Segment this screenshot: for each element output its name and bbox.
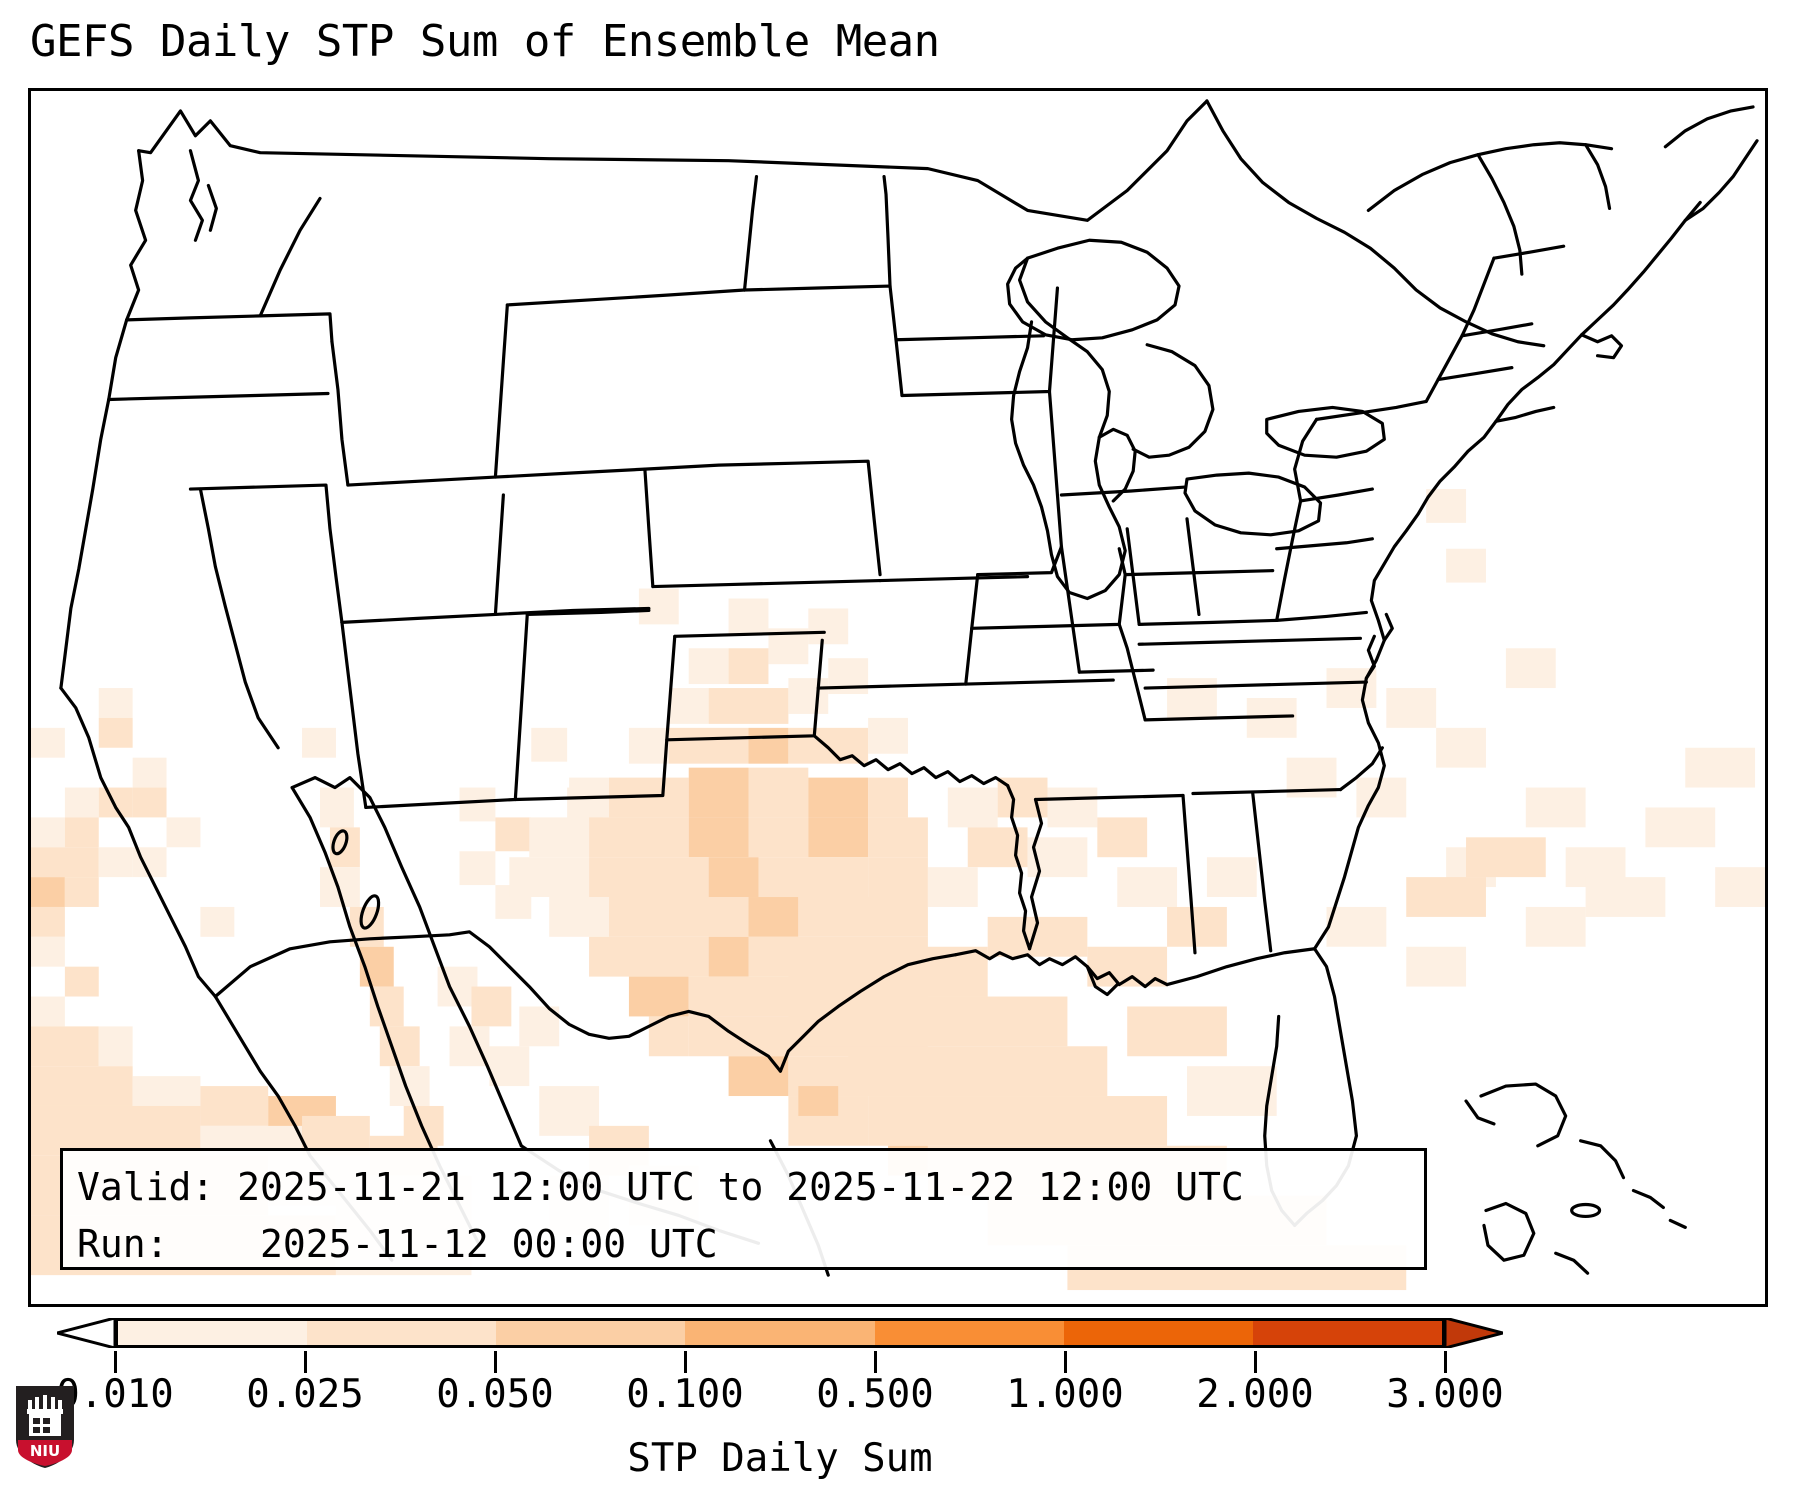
colorbar-tick-label: 0.100 <box>626 1372 743 1417</box>
colorbar-segment <box>118 1321 307 1345</box>
niu-logo-text: NIU <box>30 1442 60 1460</box>
page-title: GEFS Daily STP Sum of Ensemble Mean <box>30 16 940 67</box>
colorbar-segment <box>875 1321 1064 1345</box>
colorbar-tick <box>1064 1351 1067 1373</box>
colorbar: 0.0100.0250.0500.1000.5001.0002.0003.000… <box>0 1310 1803 1500</box>
colorbar-tick-label: 2.000 <box>1196 1372 1313 1417</box>
valid-time-line: Valid: 2025-11-21 12:00 UTC to 2025-11-2… <box>77 1159 1410 1216</box>
niu-logo: NIU <box>14 1384 76 1470</box>
colorbar-segment <box>496 1321 685 1345</box>
colorbar-tick <box>304 1351 307 1373</box>
colorbar-segment <box>1253 1321 1442 1345</box>
colorbar-gradient <box>115 1318 1445 1348</box>
colorbar-tick-label: 1.000 <box>1006 1372 1123 1417</box>
colorbar-tick-label: 0.500 <box>816 1372 933 1417</box>
run-time-line: Run: 2025-11-12 00:00 UTC <box>77 1216 1410 1273</box>
colorbar-tick <box>1444 1351 1447 1373</box>
colorbar-tick-label: 3.000 <box>1386 1372 1503 1417</box>
map-plot-frame <box>28 88 1768 1307</box>
colorbar-tick-label: 0.025 <box>246 1372 363 1417</box>
colorbar-segment <box>307 1321 496 1345</box>
colorbar-segment <box>1064 1321 1253 1345</box>
colorbar-tick <box>874 1351 877 1373</box>
colorbar-segment <box>685 1321 874 1345</box>
colorbar-tick <box>494 1351 497 1373</box>
colorbar-extend-low-arrow <box>57 1318 115 1348</box>
valid-run-annotation-box: Valid: 2025-11-21 12:00 UTC to 2025-11-2… <box>60 1148 1427 1270</box>
colorbar-tick-labels: 0.0100.0250.0500.1000.5001.0002.0003.000 <box>0 1372 1803 1428</box>
map-canvas <box>31 91 1765 1304</box>
colorbar-axis-label: STP Daily Sum <box>0 1436 1560 1481</box>
colorbar-tick <box>1254 1351 1257 1373</box>
colorbar-tick <box>684 1351 687 1373</box>
colorbar-extend-high-arrow <box>1445 1318 1503 1348</box>
colorbar-ticks <box>0 1351 1803 1373</box>
colorbar-tick <box>114 1351 117 1373</box>
colorbar-tick-label: 0.050 <box>436 1372 553 1417</box>
